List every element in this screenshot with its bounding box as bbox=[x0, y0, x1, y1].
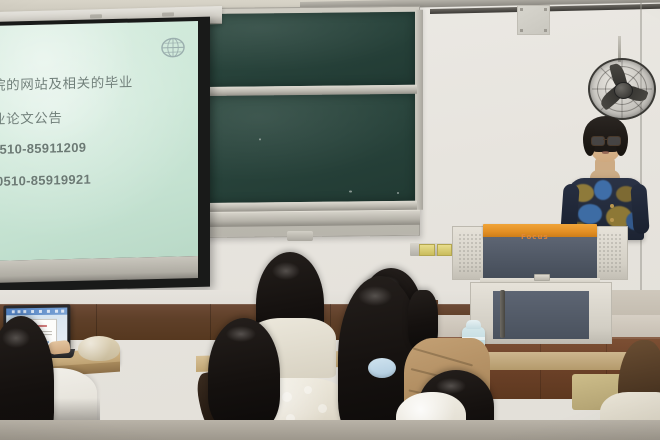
podium-front-panel bbox=[483, 237, 597, 279]
laptop-app-toolbar bbox=[6, 307, 67, 315]
projector-wall-mount bbox=[287, 231, 313, 241]
blackboard-panel-upper bbox=[207, 12, 415, 87]
eyeglasses-bridge bbox=[603, 139, 608, 140]
blackboard-post-right bbox=[416, 10, 423, 210]
podium-brand-label: Focus bbox=[521, 233, 549, 241]
wall-access-panel bbox=[517, 5, 550, 35]
podium-stand-pole bbox=[500, 290, 505, 338]
blackboard bbox=[203, 6, 420, 238]
projection-screen: 院的网站及相关的毕业 业论文公告 0510-85911209 0510-8591… bbox=[0, 17, 210, 292]
slide-line-1: 院的网站及相关的毕业 bbox=[0, 69, 198, 94]
fan-hub bbox=[614, 82, 633, 99]
slide-line-4: 0510-85919921 bbox=[0, 169, 198, 189]
presenter-arm-right bbox=[630, 184, 649, 235]
podium-base bbox=[470, 282, 612, 344]
presenter-mouth bbox=[602, 151, 609, 154]
fan-cage bbox=[588, 58, 656, 120]
cream-bag bbox=[78, 336, 120, 361]
projection-screen-weight-bar bbox=[0, 256, 198, 283]
presenter-eyeglasses bbox=[607, 136, 621, 146]
presenter bbox=[562, 118, 648, 226]
blackboard-panel-lower bbox=[207, 94, 415, 203]
classroom-scene: 院的网站及相关的毕业 业论文公告 0510-85911209 0510-8591… bbox=[0, 0, 660, 440]
chalk-box bbox=[437, 244, 452, 256]
presenter-eyeglasses bbox=[591, 136, 605, 146]
chalk-box bbox=[419, 244, 435, 256]
slide-line-3: 0510-85911209 bbox=[0, 137, 198, 157]
podium-speaker-right bbox=[592, 226, 628, 280]
podium-latch bbox=[534, 274, 550, 281]
slide-line-2: 业论文公告 bbox=[0, 103, 198, 128]
front-desk-bar bbox=[0, 420, 660, 440]
chalk-tray bbox=[203, 210, 420, 227]
university-emblem-logo bbox=[160, 34, 186, 61]
blue-hair-scrunchie bbox=[368, 358, 396, 378]
podium-base-panel bbox=[493, 291, 589, 339]
student-head-c1 bbox=[208, 318, 280, 430]
slide-text-block: 院的网站及相关的毕业 业论文公告 0510-85911209 0510-8591… bbox=[0, 69, 198, 206]
projection-screen-surface: 院的网站及相关的毕业 业论文公告 0510-85911209 0510-8591… bbox=[0, 21, 198, 261]
wall-mounted-fan bbox=[588, 58, 654, 120]
